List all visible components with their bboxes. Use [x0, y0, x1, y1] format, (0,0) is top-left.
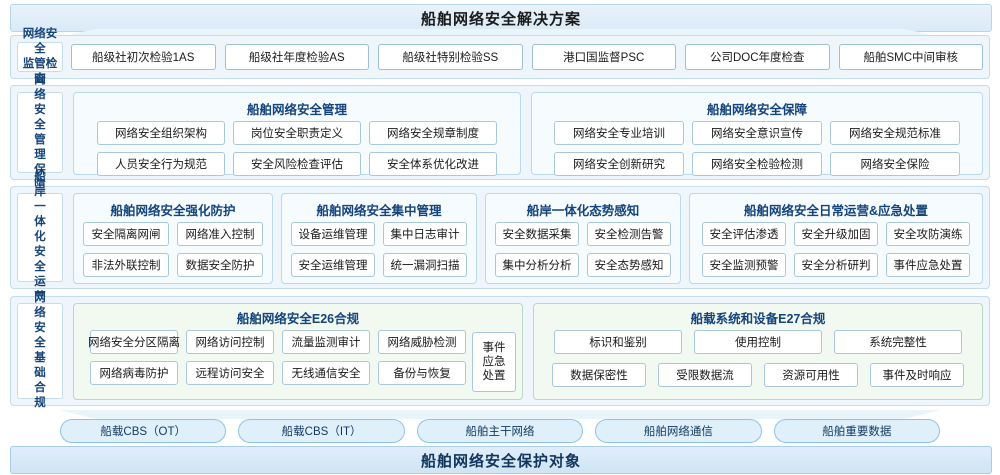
chip[interactable]: 网络安全创新研究: [554, 152, 684, 176]
chip[interactable]: 数据安全防护: [177, 253, 263, 277]
group-chips: 安全评估渗透 安全升级加固 安全攻防演练 安全监测预警 安全分析研判 事件应急处…: [690, 222, 982, 284]
management-band-label: 网络安全管理保障: [17, 92, 63, 173]
protection-object-pill[interactable]: 船舶重要数据: [774, 419, 940, 443]
chip[interactable]: 安全体系优化改进: [369, 152, 497, 176]
chip[interactable]: 资源可用性: [764, 363, 858, 387]
protection-object-pill[interactable]: 船载CBS（IT）: [238, 419, 404, 443]
group-title: 船舶网络安全保障: [532, 95, 982, 121]
group-title: 船载系统和设备E27合规: [534, 304, 982, 330]
protection-object-pill[interactable]: 船载CBS（OT）: [60, 419, 226, 443]
chip[interactable]: 岗位安全职责定义: [233, 121, 361, 145]
chip[interactable]: 远程访问安全: [186, 361, 274, 385]
regulatory-band: 网络安全 监管检查 船级社初次检验1AS 船级社年度检验AS 船级社特别检验SS…: [10, 35, 990, 79]
group-title: 船舶网络安全日常运营&应急处置: [690, 196, 982, 222]
chip[interactable]: 安全分析研判: [794, 253, 878, 277]
chip[interactable]: 安全数据采集: [495, 222, 579, 246]
group-ship-cyber-management: 船舶网络安全管理 网络安全组织架构 岗位安全职责定义 网络安全规章制度 人员安全…: [73, 92, 521, 175]
chip[interactable]: 非法外联控制: [83, 253, 169, 277]
chip[interactable]: 备份与恢复: [378, 361, 466, 385]
chip[interactable]: 数据保密性: [552, 363, 646, 387]
chip[interactable]: 系统完整性: [834, 330, 962, 354]
group-centralized-management: 船舶网络安全集中管理 设备运维管理 集中日志审计 安全运维管理 统一漏洞扫描: [281, 193, 477, 284]
chip[interactable]: 网络安全专业培训: [554, 121, 684, 145]
chip[interactable]: 安全评估渗透: [702, 222, 786, 246]
chip[interactable]: 统一漏洞扫描: [383, 253, 467, 277]
group-daily-ops-emergency: 船舶网络安全日常运营&应急处置 安全评估渗透 安全升级加固 安全攻防演练 安全监…: [689, 193, 983, 284]
chip[interactable]: 受限数据流: [658, 363, 752, 387]
chip[interactable]: 人员安全行为规范: [97, 152, 225, 176]
group-chips: 网络安全组织架构 岗位安全职责定义 网络安全规章制度 人员安全行为规范 安全风险…: [74, 121, 520, 183]
compliance-band: 网络安全基础合规 船舶网络安全E26合规 网络安全分区隔离 网络访问控制 流量监…: [10, 296, 990, 406]
chip[interactable]: 安全态势感知: [587, 253, 671, 277]
group-chips: 安全数据采集 安全检测告警 集中分析分析 安全态势感知: [486, 222, 680, 284]
diagram-root: 船舶网络安全解决方案 网络安全 监管检查 船级社初次检验1AS 船级社年度检验A…: [0, 0, 1000, 475]
group-chips: 设备运维管理 集中日志审计 安全运维管理 统一漏洞扫描: [282, 222, 476, 284]
group-e26-compliance: 船舶网络安全E26合规 网络安全分区隔离 网络访问控制 流量监测审计 网络威胁检…: [73, 303, 523, 400]
chip[interactable]: 网络安全规范标准: [830, 121, 960, 145]
regulatory-item[interactable]: 船级社特别检验SS: [378, 44, 523, 70]
chip[interactable]: 网络安全组织架构: [97, 121, 225, 145]
chip[interactable]: 安全运维管理: [291, 253, 375, 277]
group-title: 船舶网络安全强化防护: [74, 196, 272, 222]
chip[interactable]: 使用控制: [694, 330, 822, 354]
group-chips: 标识和鉴别 使用控制 系统完整性 数据保密性 受限数据流 资源可用性 事件及时响…: [534, 330, 982, 394]
chip[interactable]: 网络安全分区隔离: [90, 330, 178, 354]
group-title: 船舶网络安全E26合规: [74, 304, 522, 330]
chip[interactable]: 无线通信安全: [282, 361, 370, 385]
regulatory-item[interactable]: 船级社年度检验AS: [225, 44, 370, 70]
protection-objects-row: 船载CBS（OT） 船载CBS（IT） 船舶主干网络 船舶网络通信 船舶重要数据: [60, 418, 940, 444]
chip[interactable]: 事件应急处置: [886, 253, 970, 277]
compliance-band-label: 网络安全基础合规: [17, 303, 63, 399]
group-chips: 网络安全分区隔离 网络访问控制 流量监测审计 网络威胁检测 网络病毒防护 远程访…: [74, 330, 482, 392]
management-band: 网络安全管理保障 船舶网络安全管理 网络安全组织架构 岗位安全职责定义 网络安全…: [10, 85, 990, 180]
regulatory-item[interactable]: 船舶SMC中间审核: [839, 44, 984, 70]
chip[interactable]: 设备运维管理: [291, 222, 375, 246]
group-chips: 安全隔离网闸 网络准入控制 非法外联控制 数据安全防护: [74, 222, 272, 284]
ops-band-label: 船岸一体化安全运营: [17, 193, 63, 282]
group-enhanced-protection: 船舶网络安全强化防护 安全隔离网闸 网络准入控制 非法外联控制 数据安全防护: [73, 193, 273, 284]
ops-band: 船岸一体化安全运营 船舶网络安全强化防护 安全隔离网闸 网络准入控制 非法外联控…: [10, 186, 990, 289]
regulatory-item[interactable]: 船级社初次检验1AS: [71, 44, 216, 70]
chip[interactable]: 安全风险检查评估: [233, 152, 361, 176]
chip[interactable]: 网络安全意识宣传: [692, 121, 822, 145]
chip[interactable]: 标识和鉴别: [554, 330, 682, 354]
group-title: 船舶网络安全集中管理: [282, 196, 476, 222]
page-title: 船舶网络安全解决方案: [10, 4, 992, 32]
chip[interactable]: 安全攻防演练: [886, 222, 970, 246]
chip[interactable]: 网络安全保险: [830, 152, 960, 176]
chip[interactable]: 网络安全规章制度: [369, 121, 497, 145]
group-situational-awareness: 船岸一体化态势感知 安全数据采集 安全检测告警 集中分析分析 安全态势感知: [485, 193, 681, 284]
chip[interactable]: 安全监测预警: [702, 253, 786, 277]
chip[interactable]: 安全检测告警: [587, 222, 671, 246]
group-title: 船岸一体化态势感知: [486, 196, 680, 222]
group-ship-cyber-assurance: 船舶网络安全保障 网络安全专业培训 网络安全意识宣传 网络安全规范标准 网络安全…: [531, 92, 983, 175]
chip[interactable]: 安全隔离网闸: [83, 222, 169, 246]
chip[interactable]: 网络威胁检测: [378, 330, 466, 354]
group-e27-compliance: 船载系统和设备E27合规 标识和鉴别 使用控制 系统完整性 数据保密性 受限数据…: [533, 303, 983, 400]
group-chips: 网络安全专业培训 网络安全意识宣传 网络安全规范标准 网络安全创新研究 网络安全…: [532, 121, 982, 183]
chip[interactable]: 安全升级加固: [794, 222, 878, 246]
bottom-title: 船舶网络安全保护对象: [10, 446, 992, 474]
protection-object-pill[interactable]: 船舶网络通信: [595, 419, 761, 443]
chip[interactable]: 事件及时响应: [870, 363, 964, 387]
chip[interactable]: 网络访问控制: [186, 330, 274, 354]
chip[interactable]: 网络病毒防护: [90, 361, 178, 385]
chip[interactable]: 集中日志审计: [383, 222, 467, 246]
protection-object-pill[interactable]: 船舶主干网络: [417, 419, 583, 443]
group-title: 船舶网络安全管理: [74, 95, 520, 121]
regulatory-items: 船级社初次检验1AS 船级社年度检验AS 船级社特别检验SS 港口国监督PSC …: [71, 42, 983, 72]
regulatory-item[interactable]: 港口国监督PSC: [532, 44, 677, 70]
regulatory-item[interactable]: 公司DOC年度检查: [685, 44, 830, 70]
chip[interactable]: 集中分析分析: [495, 253, 579, 277]
chip[interactable]: 网络安全检验检测: [692, 152, 822, 176]
chip[interactable]: 流量监测审计: [282, 330, 370, 354]
chip[interactable]: 网络准入控制: [177, 222, 263, 246]
regulatory-band-label: 网络安全 监管检查: [17, 42, 63, 72]
chip-incident-emergency-response[interactable]: 事件应急处置: [472, 332, 516, 392]
regulatory-label-line1: 网络安全: [23, 28, 58, 55]
